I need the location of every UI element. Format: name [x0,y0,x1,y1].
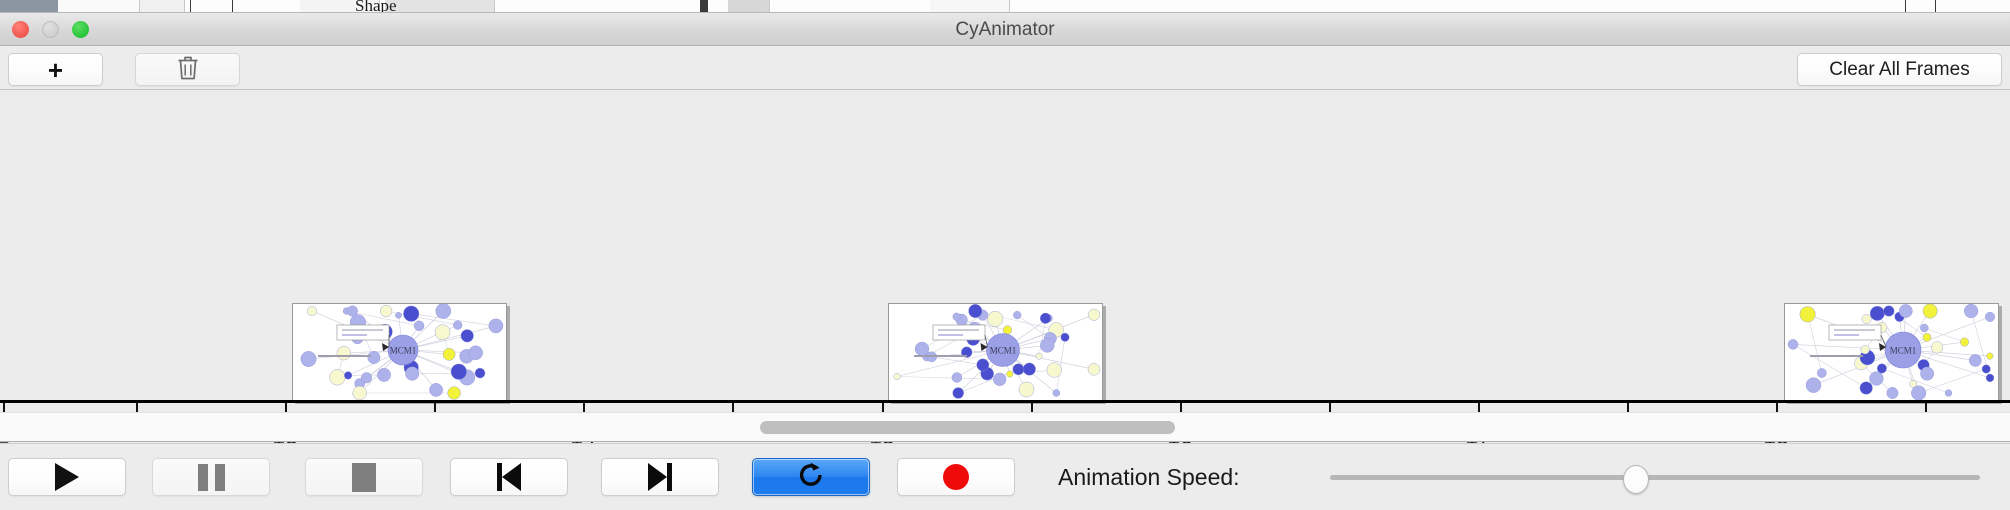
title-bar: CyAnimator [0,13,2010,46]
clear-all-frames-button[interactable]: Clear All Frames [1797,53,2002,86]
timeline-scrollbar-thumb[interactable] [760,421,1175,434]
timeline-panel[interactable]: MCM1 MCM1 MCM1 2131415161718 Seconds [0,90,2010,412]
clear-all-frames-label: Clear All Frames [1829,59,1969,81]
pause-icon [198,464,225,491]
cyanimator-window: Shape CyAnimator + Clear All Frames MCM1 [0,0,2010,510]
stop-button[interactable] [305,458,423,496]
timeline-frame-thumbnail[interactable]: MCM1 [292,303,507,401]
toolbar: + Clear All Frames [0,46,2010,90]
next-frame-button[interactable] [601,458,719,496]
play-button[interactable] [8,458,126,496]
animation-speed-slider[interactable] [1330,458,1980,496]
animation-speed-label: Animation Speed: [1058,458,1240,496]
slider-track [1330,475,1980,480]
pause-button[interactable] [152,458,270,496]
svg-text:MCM1: MCM1 [390,346,417,356]
loop-icon [796,460,826,495]
svg-text:MCM1: MCM1 [990,346,1017,356]
skip-forward-icon [648,463,672,491]
window-title: CyAnimator [0,13,2010,46]
trash-icon [176,54,200,86]
record-button[interactable] [897,458,1015,496]
svg-text:MCM1: MCM1 [1890,346,1917,356]
play-icon [55,463,79,491]
background-window-label: Shape [355,0,397,13]
slider-thumb[interactable] [1623,465,1649,494]
playback-control-bar: Animation Speed: [0,443,2010,510]
timeline-axis [0,400,2010,403]
record-icon [943,464,969,490]
timeline-frame-thumbnail[interactable]: MCM1 [888,303,1103,401]
delete-frame-button[interactable] [135,53,240,86]
axis-tick-minor [1031,403,1033,412]
axis-tick-minor [1329,403,1331,412]
axis-tick-minor [434,403,436,412]
timeline-scrollbar[interactable] [0,412,2010,442]
add-frame-button[interactable]: + [8,53,103,86]
axis-tick-minor [1925,403,1927,412]
axis-tick-minor [732,403,734,412]
skip-back-icon [497,463,521,491]
previous-frame-button[interactable] [450,458,568,496]
stop-icon [352,463,376,492]
background-window-strip: Shape [0,0,2010,13]
loop-button[interactable] [752,458,870,496]
axis-tick-minor [1627,403,1629,412]
timeline-frame-thumbnail[interactable]: MCM1 [1784,303,1999,401]
axis-tick-minor [136,403,138,412]
plus-icon: + [48,57,63,83]
